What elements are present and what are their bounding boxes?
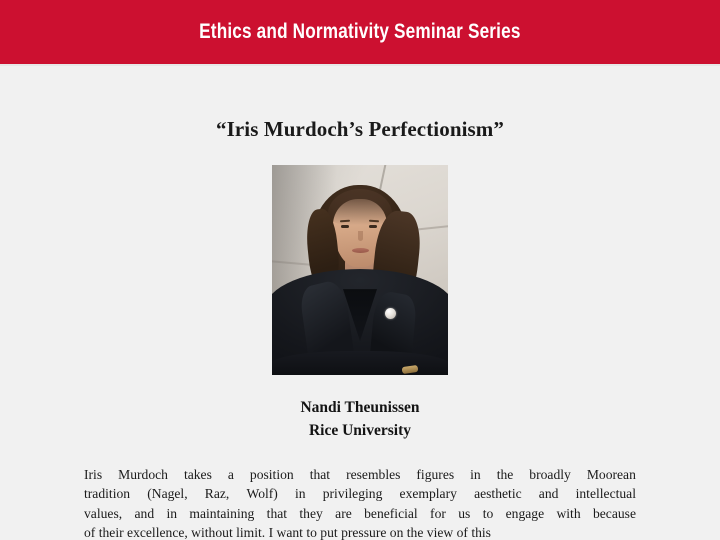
abstract-word: and <box>539 484 559 504</box>
banner-title: Ethics and Normativity Seminar Series <box>199 21 520 43</box>
abstract-word: broadly <box>529 465 571 485</box>
abstract-word: Iris <box>84 465 102 485</box>
abstract-word: with <box>556 504 580 524</box>
poster-content: “Iris Murdoch’s Perfectionism” <box>0 66 720 540</box>
abstract-word: because <box>593 504 636 524</box>
abstract-word: beneficial <box>364 504 418 524</box>
abstract-word: that <box>310 465 330 485</box>
abstract-line-text: of their excellence, without limit. I wa… <box>84 523 491 540</box>
abstract-word: Murdoch <box>118 465 168 485</box>
banner-header: Ethics and Normativity Seminar Series <box>0 0 720 64</box>
abstract-word: Moorean <box>587 465 636 485</box>
speaker-photo-image <box>272 165 448 375</box>
abstract-word: exemplary <box>400 484 457 504</box>
abstract-word: the <box>497 465 514 485</box>
abstract-word: in <box>295 484 306 504</box>
abstract-word: for <box>430 504 446 524</box>
abstract-word: intellectual <box>576 484 636 504</box>
abstract-word: takes <box>184 465 212 485</box>
abstract-word: Wolf) <box>246 484 277 504</box>
speaker-name: Nandi Theunissen <box>0 397 720 420</box>
photo-eye-right <box>369 225 377 228</box>
abstract-word: to <box>483 504 494 524</box>
abstract-word: maintaining <box>189 504 254 524</box>
abstract-word: are <box>335 504 352 524</box>
talk-title: “Iris Murdoch’s Perfectionism” <box>0 66 720 141</box>
abstract-word: position <box>250 465 294 485</box>
abstract-word: that <box>267 504 287 524</box>
photo-folded-arms <box>272 351 448 375</box>
photo-eye-left <box>341 225 349 228</box>
abstract-line: of their excellence, without limit. I wa… <box>84 523 636 540</box>
speaker-block: Nandi Theunissen Rice University <box>0 397 720 443</box>
abstract-text: IrisMurdochtakesapositionthatresemblesfi… <box>84 465 636 540</box>
abstract-word: in <box>470 465 481 485</box>
abstract-word: aesthetic <box>474 484 522 504</box>
abstract-line: tradition(Nagel,Raz,Wolf)inprivilegingex… <box>84 484 636 504</box>
abstract-line: IrisMurdochtakesapositionthatresemblesfi… <box>84 465 636 485</box>
abstract-word: us <box>458 504 470 524</box>
speaker-photo <box>272 165 448 375</box>
photo-nose <box>358 231 363 241</box>
abstract-word: a <box>228 465 234 485</box>
abstract-word: resembles <box>346 465 400 485</box>
speaker-affiliation: Rice University <box>0 420 720 443</box>
abstract-word: in <box>166 504 177 524</box>
abstract-word: figures <box>416 465 454 485</box>
abstract-word: (Nagel, <box>147 484 187 504</box>
abstract-word: privileging <box>323 484 383 504</box>
abstract-word: Raz, <box>205 484 230 504</box>
abstract-word: they <box>299 504 322 524</box>
abstract-word: and <box>134 504 154 524</box>
abstract-word: tradition <box>84 484 130 504</box>
abstract-word: values, <box>84 504 122 524</box>
seminar-poster-page: Ethics and Normativity Seminar Series “I… <box>0 0 720 540</box>
abstract-word: engage <box>506 504 545 524</box>
abstract-line: values,andinmaintainingthattheyarebenefi… <box>84 504 636 524</box>
